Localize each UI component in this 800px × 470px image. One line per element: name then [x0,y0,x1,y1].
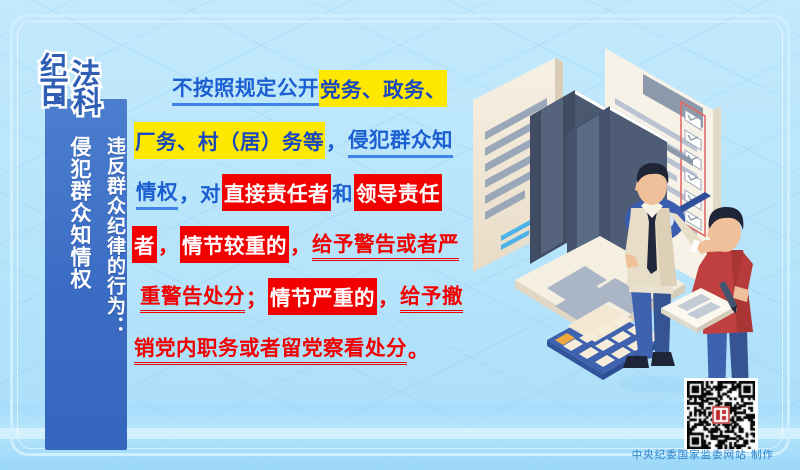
text-line-6: 销党内职务或者留党察看处分。 [126,322,488,374]
segment-red-plain: ， [157,229,180,259]
segment-blue-underline: 不按照规定公开 [172,71,319,106]
segment-red-double-underline: 重警告处分 [140,279,245,313]
wechat-qr-code[interactable] [684,378,758,452]
text-line-1: 不按照规定公开党务、政务、 [126,62,488,114]
segment-red-plain: 。 [407,333,430,363]
brand-logo: 纪 法 百 科 [38,52,134,114]
logo-char-ke: 科 [73,88,102,117]
segment-red-highlight: 情节严重的 [268,278,377,315]
segment-red-double-underline: 销党内职务或者留党察看处分 [134,331,407,365]
segment-blue-underline: 侵犯群众知 [348,123,453,158]
segment-red-plain: ， [289,229,312,259]
poster-canvas: 纪 法 百 科 违反群众纪律的行为： 侵犯群众知情权 不按照规定公开党务、政务、… [0,0,800,470]
regulation-text-block: 不按照规定公开党务、政务、 厂务、村（居）务等，侵犯群众知 情权，对直接责任者和… [126,62,488,374]
segment-red-highlight: 者 [132,226,157,263]
text-line-3: 情权，对直接责任者和领导责任 [126,166,488,218]
illustration-office-scene [455,40,785,430]
segment-red-double-underline: 给予撤 [400,279,463,313]
segment-blue-underline: 情权 [136,175,178,210]
segment-yellow-highlight: 党务、政务、 [319,70,447,107]
segment-blue-plain: 和 [331,177,354,207]
vertical-title-left-column: 侵犯群众知情权 [61,136,91,290]
segment-red-double-underline: 给予警告或者严 [312,227,459,261]
segment-blue-plain: ， [325,125,348,155]
play-triangle-icon [54,93,63,105]
left-title-block: 纪 法 百 科 违反群众纪律的行为： 侵犯群众知情权 [38,52,134,400]
vertical-title-columns: 违反群众纪律的行为： 侵犯群众知情权 [45,136,127,448]
segment-red-highlight: 领导责任 [354,174,442,211]
vertical-title-right-column: 违反群众纪律的行为： [95,136,125,336]
segment-red-plain: ； [245,281,268,311]
segment-red-highlight: 直接责任者 [222,174,331,211]
segment-blue-plain: ，对 [178,177,222,207]
text-line-5: 重警告处分；情节严重的，给予撤 [126,270,488,322]
text-line-2: 厂务、村（居）务等，侵犯群众知 [126,114,488,166]
illustration-svg [455,40,785,430]
segment-red-plain: ， [377,281,400,311]
text-line-4: 者，情节较重的，给予警告或者严 [126,218,488,270]
credit-line: 中央纪委国家监委网站 制作 [632,447,774,462]
segment-red-highlight: 情节较重的 [180,226,289,263]
segment-yellow-highlight: 厂务、村（居）务等 [134,122,325,159]
qr-canvas [687,381,755,449]
